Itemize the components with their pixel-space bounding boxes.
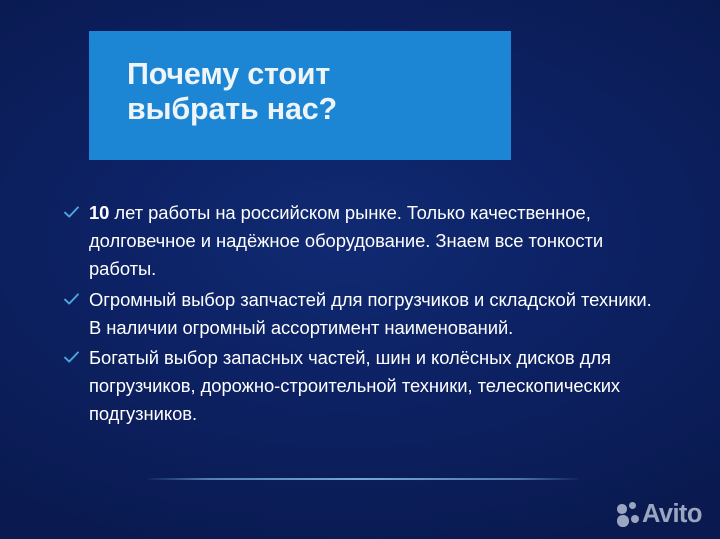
title-banner: Почему стоит выбрать нас? [89, 31, 511, 160]
slide-canvas: Почему стоит выбрать нас? 10 лет работы … [0, 0, 720, 539]
page-title: Почему стоит выбрать нас? [127, 57, 497, 127]
avito-dots-icon [617, 502, 641, 526]
list-item-rest: Огромный выбор запчастей для погрузчиков… [89, 289, 652, 338]
benefits-list: 10 лет работы на российском рынке. Тольк… [63, 199, 663, 431]
avito-wordmark: Avito [642, 502, 702, 527]
check-icon [63, 291, 80, 308]
avito-watermark: Avito [617, 499, 702, 529]
list-item-label: Богатый выбор запасных частей, шин и кол… [89, 344, 663, 429]
list-item-rest: лет работы на российском рынке. Только к… [89, 202, 603, 279]
list-item-label: Огромный выбор запчастей для погрузчиков… [89, 286, 663, 342]
divider [148, 478, 578, 480]
list-item-label: 10 лет работы на российском рынке. Тольк… [89, 199, 663, 284]
list-item: Богатый выбор запасных частей, шин и кол… [63, 344, 663, 429]
list-item: Огромный выбор запчастей для погрузчиков… [63, 286, 663, 342]
list-item-lead: 10 [89, 202, 109, 223]
check-icon [63, 204, 80, 221]
list-item: 10 лет работы на российском рынке. Тольк… [63, 199, 663, 284]
list-item-rest: Богатый выбор запасных частей, шин и кол… [89, 347, 620, 424]
check-icon [63, 349, 80, 366]
